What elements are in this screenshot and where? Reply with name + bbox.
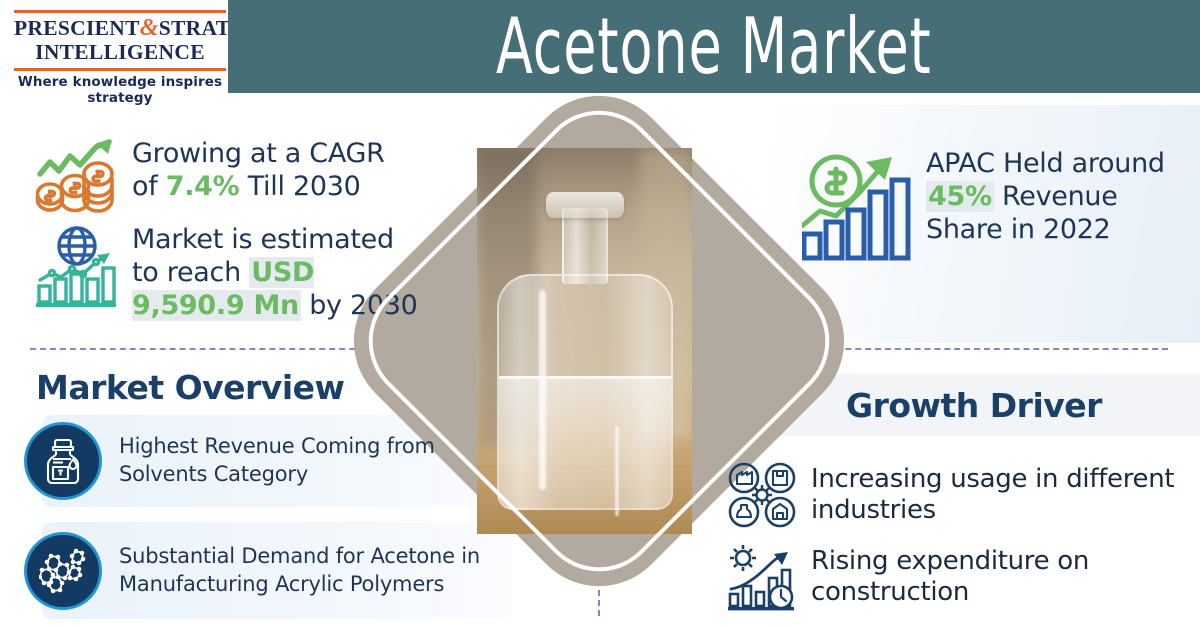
market-overview-title: Market Overview [36,368,345,407]
logo-line-2: INTELLIGENCE [14,41,226,68]
stat-market-size-text: Market is estimated to reach USD 9,590.9… [132,224,424,323]
product-photo [477,148,692,534]
stat-market-size: Market is estimated to reach USD 9,590.9… [34,224,424,323]
stat-apac-value: 45% [926,181,994,212]
stat-cagr-text: Growing at a CAGR of 7.4% Till 2030 [132,138,414,204]
growth-driver-title: Growth Driver [846,386,1102,425]
coins-growth-icon [34,138,118,216]
chemical-bottle-icon [24,422,102,500]
bottle-stopper [546,192,624,218]
bottle-neck [562,208,608,284]
bottle-body [497,274,673,510]
stat-cagr: Growing at a CAGR of 7.4% Till 2030 [34,138,414,216]
driver-item-1: Increasing usage in different industries [726,462,1196,528]
infographic-canvas: PRESCIENT&STRATEGIC INTELLIGENCE Where k… [0,0,1200,628]
overview-item-2: Substantial Demand for Acetone in Manufa… [24,532,494,610]
center-diamond-visual [404,146,794,536]
product-photo-clip [404,146,794,536]
bottle-highlight-right [615,426,619,516]
stat-cagr-value: 7.4% [166,171,240,202]
logo-tagline: Where knowledge inspires strategy [14,71,226,106]
gear-chart-clock-icon [726,542,798,612]
page-title: Acetone Market [496,1,932,92]
driver-item-2-text: Rising expenditure on construction [811,546,1166,608]
overview-item-2-text: Substantial Demand for Acetone in Manufa… [119,543,494,598]
stat-apac-seg-0: APAC Held around [926,148,1165,179]
dollar-growth-chart-icon [802,148,912,268]
header-bar: Acetone Market [228,0,1200,93]
globe-bar-chart-icon [34,224,118,308]
bottle-highlight-left [539,290,546,490]
company-logo: PRESCIENT&STRATEGIC INTELLIGENCE Where k… [14,10,226,106]
bottle-liquid [499,376,671,508]
stat-apac-text: APAC Held around 45% Revenue Share in 20… [926,148,1180,247]
driver-item-2: Rising expenditure on construction [726,542,1166,612]
driver-item-1-text: Increasing usage in different industries [811,464,1196,526]
logo-line-1: PRESCIENT&STRATEGIC [14,13,226,42]
logo-word-prescient: PRESCIENT [14,16,140,40]
stat-cagr-seg-2: Till 2030 [239,171,360,202]
molecule-structure-icon [24,532,102,610]
stat-size-seg-2: by 2030 [301,290,418,321]
logo-ampersand: & [140,15,159,41]
stat-apac-share: APAC Held around 45% Revenue Share in 20… [802,148,1180,268]
